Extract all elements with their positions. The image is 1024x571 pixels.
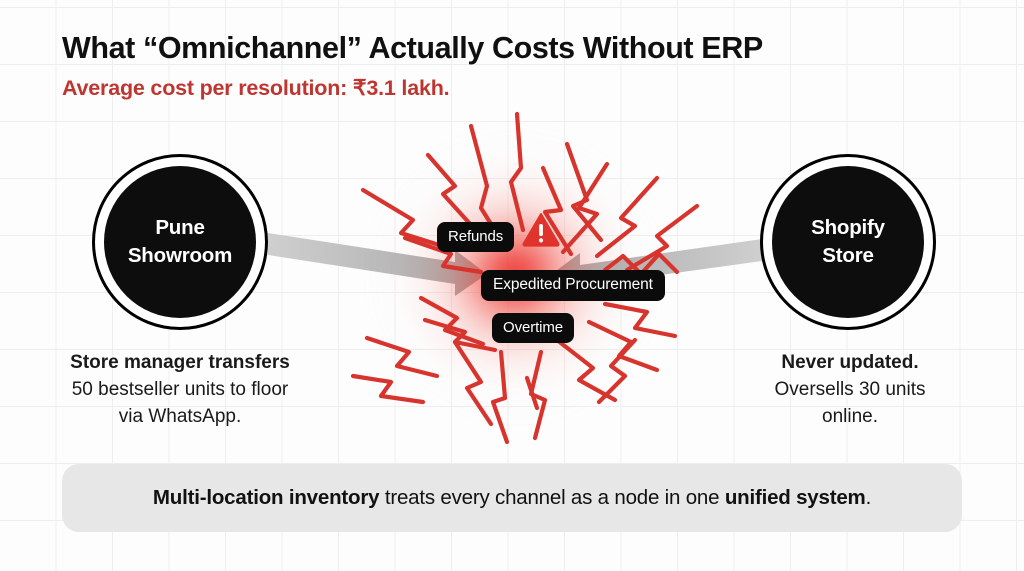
infographic-canvas: What “Omnichannel” Actually Costs Withou…	[0, 0, 1024, 571]
takeaway-middle: treats every channel as a node in one	[379, 486, 725, 509]
cost-pill-overtime: Overtime	[492, 313, 574, 343]
node-pune-showroom-label-line1: Pune	[155, 214, 204, 242]
takeaway-banner-text: Multi-location inventory treats every ch…	[153, 486, 871, 510]
caption-shopify-store-headline: Never updated.	[700, 350, 1000, 377]
takeaway-bold-start: Multi-location inventory	[153, 486, 379, 509]
warning-triangle-icon	[522, 212, 560, 247]
caption-pune-showroom-line3: via WhatsApp.	[30, 404, 330, 431]
takeaway-period: .	[866, 486, 872, 509]
node-pune-showroom[interactable]: Pune Showroom	[92, 154, 268, 330]
caption-shopify-store-line3: online.	[700, 404, 1000, 431]
node-shopify-store-body: Shopify Store	[772, 166, 924, 318]
cost-pill-expedited-procurement: Expedited Procurement	[481, 270, 665, 301]
caption-pune-showroom-line2: 50 bestseller units to floor	[30, 377, 330, 404]
caption-pune-showroom-headline: Store manager transfers	[30, 350, 330, 377]
node-pune-showroom-label-line2: Showroom	[128, 242, 232, 270]
node-shopify-store-label-line1: Shopify	[811, 214, 885, 242]
cost-pill-refunds: Refunds	[437, 222, 514, 252]
node-pune-showroom-body: Pune Showroom	[104, 166, 256, 318]
caption-shopify-store-line2: Oversells 30 units	[700, 377, 1000, 404]
node-shopify-store-label-line2: Store	[822, 242, 873, 270]
page-title: What “Omnichannel” Actually Costs Withou…	[62, 31, 763, 66]
caption-pune-showroom: Store manager transfers 50 bestseller un…	[30, 350, 330, 431]
caption-shopify-store: Never updated. Oversells 30 units online…	[700, 350, 1000, 431]
takeaway-banner: Multi-location inventory treats every ch…	[62, 464, 962, 532]
node-shopify-store[interactable]: Shopify Store	[760, 154, 936, 330]
takeaway-bold-end: unified system	[725, 486, 866, 509]
